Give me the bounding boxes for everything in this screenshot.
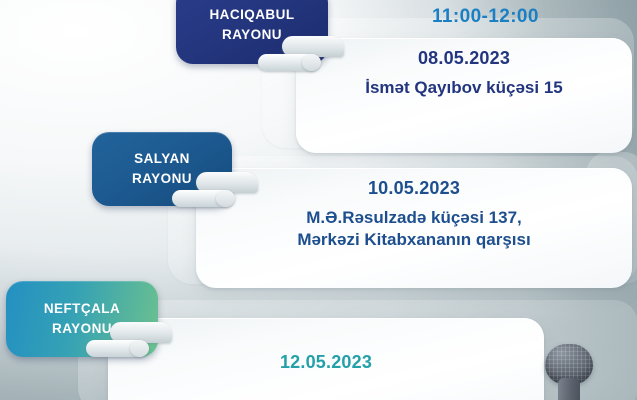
- info-card-salyan: 10.05.2023 M.Ə.Rəsulzadə küçəsi 137, Mər…: [196, 168, 632, 288]
- time-label: 11:00-12:00: [432, 6, 539, 28]
- district-badge-suffix: RAYONU: [132, 169, 192, 189]
- card-date: 10.05.2023: [368, 177, 460, 200]
- info-card-haciqabul: 08.05.2023 İsmət Qayıbov küçəsi 15: [296, 38, 632, 153]
- district-badge-name: SALYAN: [134, 149, 190, 169]
- microphone-head: [545, 344, 593, 384]
- card-address: M.Ə.Rəsulzadə küçəsi 137, Mərkəzi Kitabx…: [281, 207, 546, 251]
- card-address-line-2: Mərkəzi Kitabxananın qarşısı: [297, 229, 530, 251]
- microphone-icon: [545, 344, 593, 400]
- card-date: 08.05.2023: [418, 47, 510, 70]
- poster-canvas: 11:00-12:00 08.05.2023 İsmət Qayıbov küç…: [0, 0, 637, 400]
- district-badge-salyan[interactable]: SALYAN RAYONU: [92, 132, 232, 206]
- district-badge-suffix: RAYONU: [222, 25, 282, 45]
- district-badge-suffix: RAYONU: [52, 319, 112, 339]
- card-address: İsmət Qayıbov küçəsi 15: [349, 77, 579, 99]
- district-badge-haciqabul[interactable]: HACIQABUL RAYONU: [176, 0, 328, 64]
- card-date: 12.05.2023: [280, 351, 372, 374]
- card-address-line-1: M.Ə.Rəsulzadə küçəsi 137,: [297, 207, 530, 229]
- microphone-body: [558, 378, 580, 400]
- district-badge-name: HACIQABUL: [209, 5, 294, 25]
- district-badge-name: NEFTÇALA: [44, 299, 120, 319]
- info-card-neftcala: 12.05.2023: [108, 318, 544, 400]
- district-badge-neftcala[interactable]: NEFTÇALA RAYONU: [6, 281, 158, 357]
